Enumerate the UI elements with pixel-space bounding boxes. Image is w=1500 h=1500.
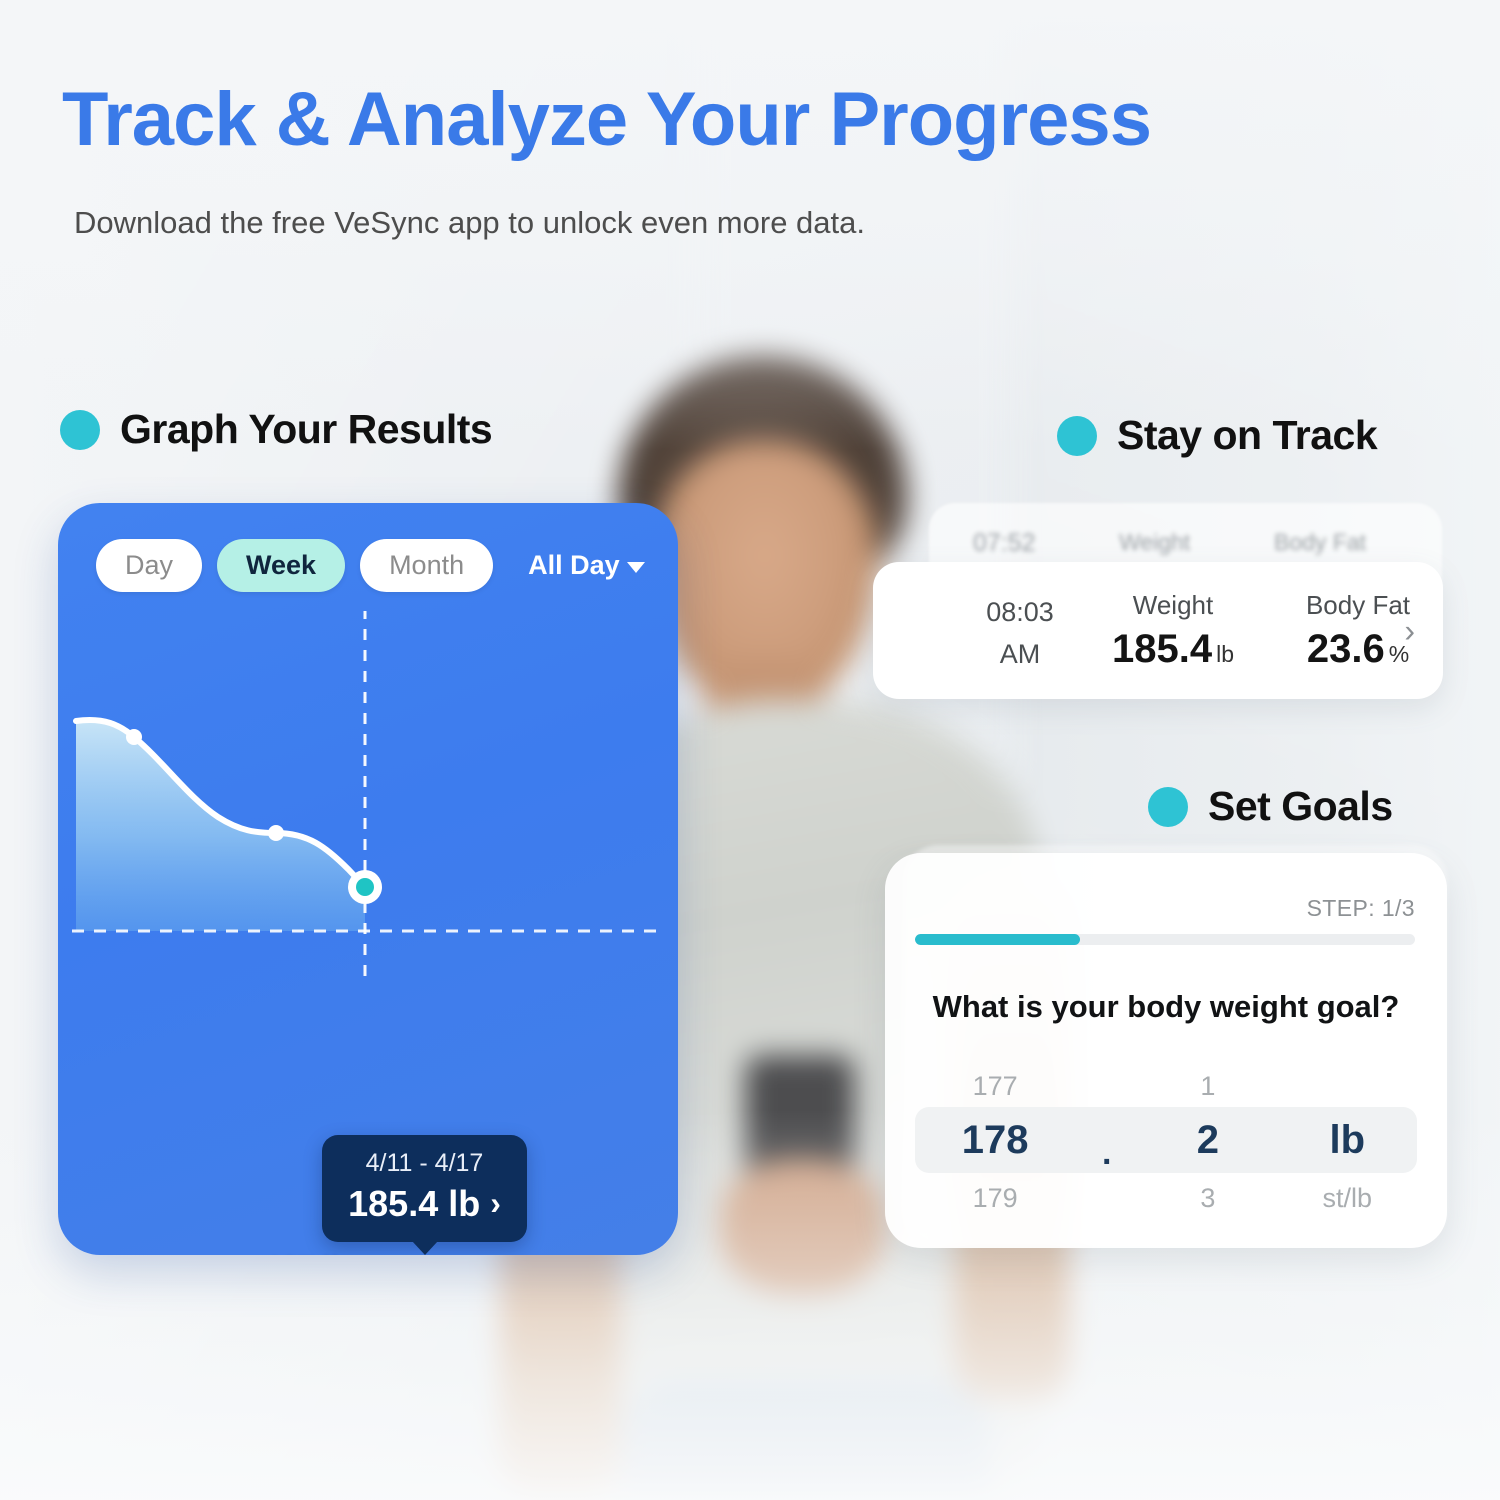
chart-point — [126, 729, 142, 745]
picker-row-above[interactable]: 177 1 — [915, 1063, 1417, 1109]
bullet-dot-icon — [1057, 416, 1097, 456]
page-title: Track & Analyze Your Progress — [62, 76, 1151, 163]
track-bg-time: 07:52 — [973, 529, 1036, 558]
all-day-dropdown-label: All Day — [528, 550, 620, 581]
chart-point-highlight — [356, 878, 374, 896]
goals-step-indicator: STEP: 1/3 — [1307, 895, 1415, 922]
measurement-time-meridiem: AM — [965, 634, 1075, 676]
measurement-weight-column: Weight 185.4lb — [1078, 590, 1268, 672]
measurement-bodyfat-header: Body Fat — [1263, 590, 1453, 621]
page-subtitle: Download the free VeSync app to unlock e… — [74, 205, 865, 241]
section-heading-track: Stay on Track — [1057, 412, 1377, 459]
promo-banner: Track & Analyze Your Progress Download t… — [0, 0, 1500, 1500]
chart-tooltip[interactable]: 4/11 - 4/17 185.4 lb › — [322, 1135, 527, 1242]
chevron-right-icon: › — [490, 1187, 501, 1219]
picker-below-whole: 179 — [915, 1183, 1075, 1214]
measurement-weight-unit: lb — [1216, 641, 1234, 667]
goals-question: What is your body weight goal? — [885, 989, 1447, 1025]
chart-point — [268, 825, 284, 841]
chevron-right-icon[interactable]: › — [1404, 612, 1415, 649]
all-day-dropdown[interactable]: All Day — [528, 550, 645, 581]
bullet-dot-icon — [1148, 787, 1188, 827]
range-chip-group: Day Week Month All Day — [96, 539, 645, 592]
picker-selected-unit: lb — [1278, 1118, 1417, 1163]
picker-above-whole: 177 — [915, 1071, 1075, 1102]
goals-card: STEP: 1/3 What is your body weight goal?… — [885, 853, 1447, 1248]
picker-row-below[interactable]: 179 3 st/lb — [915, 1175, 1417, 1221]
track-bg-fat-header: Body Fat — [1274, 529, 1366, 556]
weight-area-chart — [58, 611, 678, 1041]
tooltip-date-range: 4/11 - 4/17 — [322, 1147, 527, 1181]
chevron-down-icon — [627, 562, 645, 573]
picker-selected-decimal: 2 — [1138, 1118, 1277, 1163]
picker-below-decimal: 3 — [1138, 1183, 1277, 1214]
chart-label-187: 187 lb — [266, 1251, 348, 1255]
goals-progress-bar — [915, 934, 1415, 945]
goals-progress-fill — [915, 934, 1080, 945]
range-chip-week[interactable]: Week — [217, 539, 345, 592]
picker-row-selected[interactable]: 178 . 2 lb — [915, 1107, 1417, 1173]
picker-below-unit: st/lb — [1278, 1183, 1417, 1214]
section-heading-goals-label: Set Goals — [1208, 783, 1393, 830]
measurement-weight-header: Weight — [1078, 590, 1268, 621]
graph-card: Day Week Month All Day — [58, 503, 678, 1255]
weight-goal-picker[interactable]: 177 1 178 . 2 lb 179 3 st/lb — [915, 1063, 1417, 1213]
chart-area-fill — [76, 720, 365, 931]
track-bg-weight-header: Weight — [1119, 529, 1190, 556]
section-heading-goals: Set Goals — [1148, 783, 1393, 830]
picker-above-decimal: 1 — [1138, 1071, 1277, 1102]
picker-selected-whole: 178 — [915, 1118, 1075, 1163]
section-heading-graph-label: Graph Your Results — [120, 406, 492, 453]
track-measurement-card[interactable]: 08:03 AM Weight 185.4lb Body Fat 23.6% › — [873, 562, 1443, 699]
bullet-dot-icon — [60, 410, 100, 450]
measurement-bodyfat-value-row: 23.6% — [1263, 627, 1453, 672]
measurement-time: 08:03 AM — [965, 592, 1075, 676]
section-heading-track-label: Stay on Track — [1117, 412, 1377, 459]
range-chip-day[interactable]: Day — [96, 539, 202, 592]
picker-selected-sep: . — [1075, 1134, 1138, 1173]
section-heading-graph: Graph Your Results — [60, 406, 492, 453]
measurement-time-value: 08:03 — [965, 592, 1075, 634]
tooltip-value-row: 185.4 lb › — [322, 1181, 527, 1226]
measurement-weight-value-row: 185.4lb — [1078, 627, 1268, 672]
range-chip-month[interactable]: Month — [360, 539, 493, 592]
measurement-bodyfat-value: 23.6 — [1307, 627, 1385, 671]
measurement-weight-value: 185.4 — [1112, 627, 1212, 671]
tooltip-value: 185.4 lb — [348, 1181, 480, 1226]
measurement-bodyfat-column: Body Fat 23.6% — [1263, 590, 1453, 672]
